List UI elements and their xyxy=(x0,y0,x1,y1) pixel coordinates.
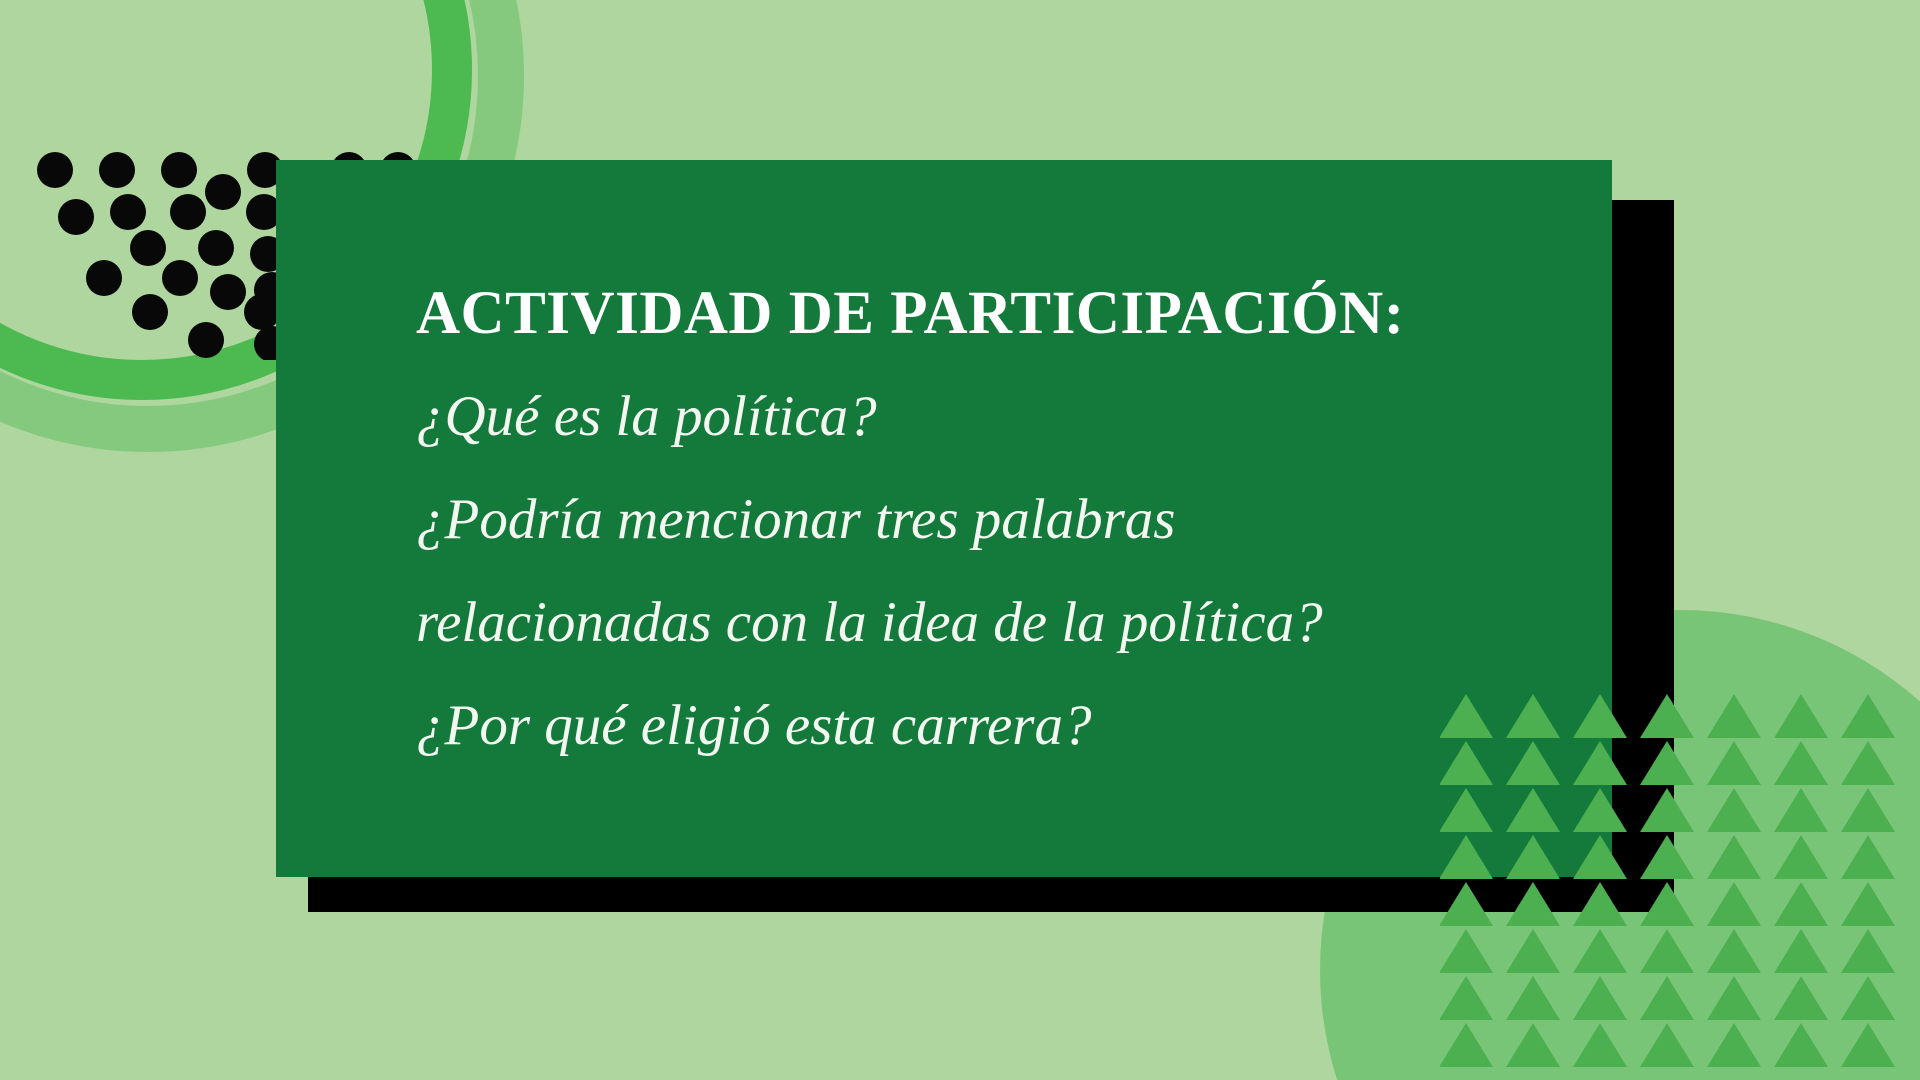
content-card: ACTIVIDAD DE PARTICIPACIÓN: ¿Qué es la p… xyxy=(276,160,1612,877)
card-text-block: ACTIVIDAD DE PARTICIPACIÓN: ¿Qué es la p… xyxy=(416,160,1572,877)
question-line-4: ¿Por qué eligió esta carrera? xyxy=(416,697,1572,754)
slide-canvas: ACTIVIDAD DE PARTICIPACIÓN: ¿Qué es la p… xyxy=(0,0,1920,1080)
question-line-3: relacionadas con la idea de la política? xyxy=(416,594,1572,651)
question-line-2: ¿Podría mencionar tres palabras xyxy=(416,491,1572,548)
question-line-1: ¿Qué es la política? xyxy=(416,388,1572,445)
page-title: ACTIVIDAD DE PARTICIPACIÓN: xyxy=(416,283,1572,344)
